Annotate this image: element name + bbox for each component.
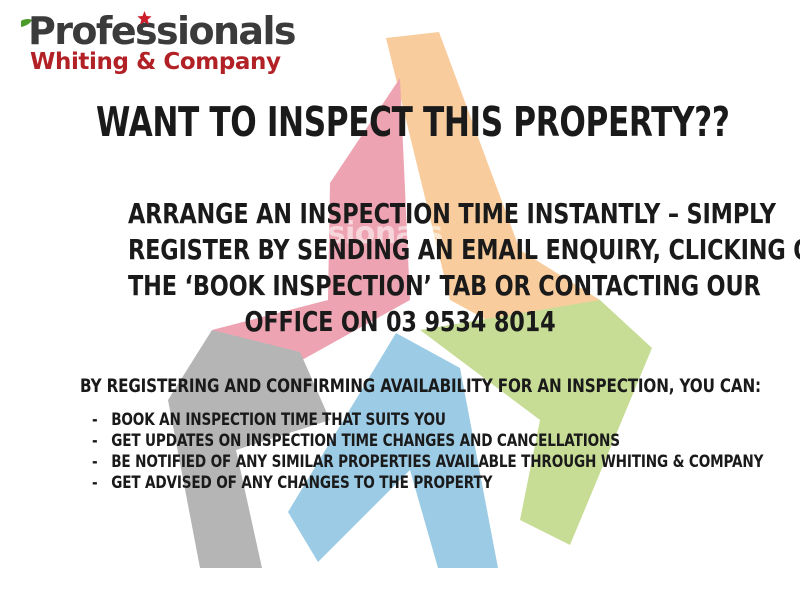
- lead-line: OFFICE ON 03 9534 8014: [128, 304, 672, 340]
- benefits-list: -BOOK AN INSPECTION TIME THAT SUITS YOU …: [92, 410, 800, 494]
- logo-primary-text: Professionals: [28, 12, 295, 50]
- list-item: -GET UPDATES ON INSPECTION TIME CHANGES …: [92, 431, 763, 452]
- lead-line: ARRANGE AN INSPECTION TIME INSTANTLY – S…: [128, 196, 672, 232]
- poster-content: WANT TO INSPECT THIS PROPERTY?? ARRANGE …: [0, 0, 800, 600]
- benefits-subheading: BY REGISTERING AND CONFIRMING AVAILABILI…: [80, 375, 720, 397]
- star-icon: [137, 11, 152, 26]
- poster-canvas: Professionals Professionals Whiting & Co…: [0, 0, 800, 600]
- lead-line: THE ‘BOOK INSPECTION’ TAB OR CONTACTING …: [128, 268, 672, 304]
- page-title: WANT TO INSPECT THIS PROPERTY??: [96, 98, 704, 146]
- list-item-label: BE NOTIFIED OF ANY SIMILAR PROPERTIES AV…: [111, 452, 763, 472]
- list-item-label: BOOK AN INSPECTION TIME THAT SUITS YOU: [111, 410, 446, 430]
- lead-line: REGISTER BY SENDING AN EMAIL ENQUIRY, CL…: [128, 232, 672, 268]
- list-item-label: GET UPDATES ON INSPECTION TIME CHANGES A…: [111, 431, 620, 451]
- lead-paragraph: ARRANGE AN INSPECTION TIME INSTANTLY – S…: [60, 196, 740, 340]
- list-item-label: GET ADVISED OF ANY CHANGES TO THE PROPER…: [111, 473, 492, 493]
- bullet-marker: -: [92, 431, 111, 452]
- list-item: -GET ADVISED OF ANY CHANGES TO THE PROPE…: [92, 473, 763, 494]
- logo-secondary-text: Whiting & Company: [30, 51, 295, 74]
- list-item: -BOOK AN INSPECTION TIME THAT SUITS YOU: [92, 410, 763, 431]
- bullet-marker: -: [92, 452, 111, 473]
- bullet-marker: -: [92, 410, 111, 431]
- list-item: -BE NOTIFIED OF ANY SIMILAR PROPERTIES A…: [92, 452, 763, 473]
- bullet-marker: -: [92, 473, 111, 494]
- brand-logo: Professionals Whiting & Company: [28, 12, 295, 74]
